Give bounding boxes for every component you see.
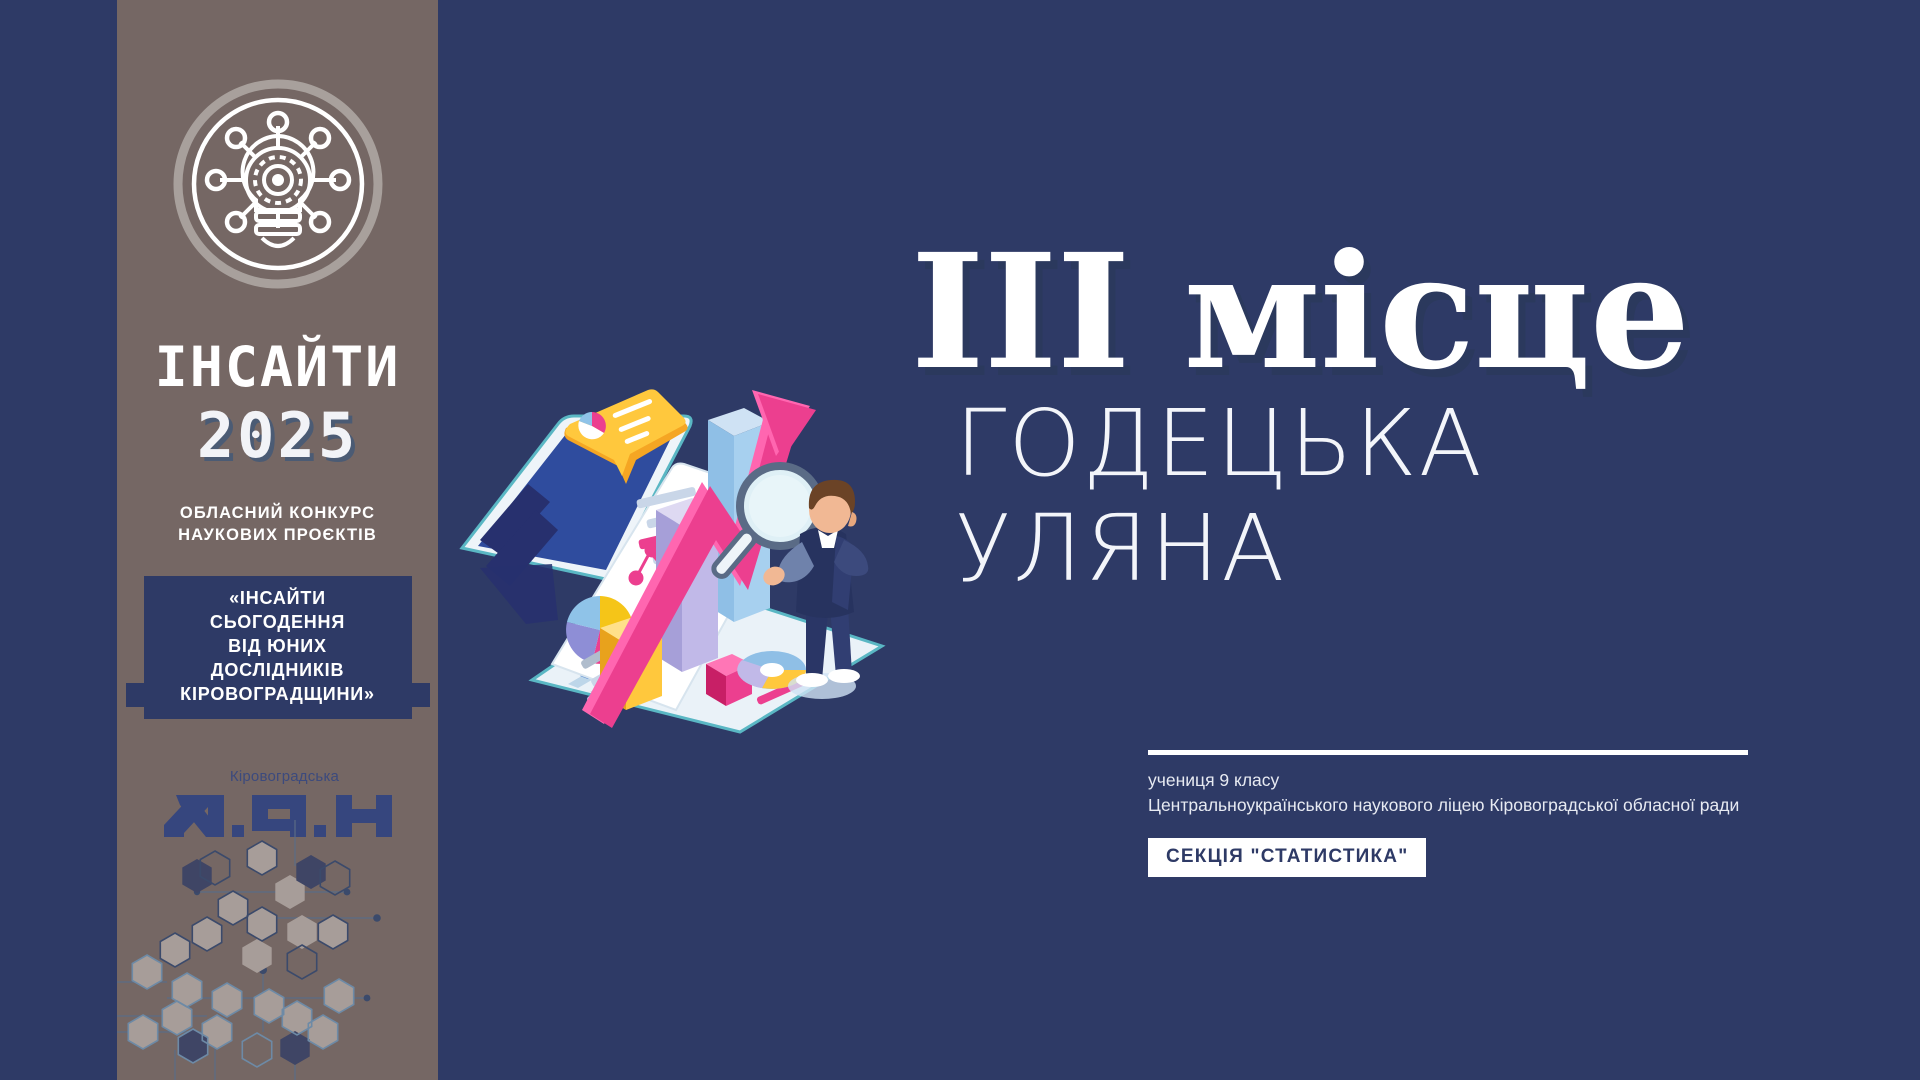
credits-line-1: учениця 9 класу [1148,768,1788,793]
subtitle-line-1: ОБЛАСНИЙ КОНКУРС [180,504,375,522]
subtitle-line-2: НАУКОВИХ ПРОЄКТІВ [178,526,377,544]
credits-line-2: Центральноукраїнського наукового ліцею К… [1148,793,1788,818]
man-region-label: Кіровоградська [162,768,408,785]
slogan-line-1: «ІНСАЙТИ [152,587,404,611]
awardee-firstname: УЛЯНА [955,497,1855,602]
competition-subtitle: ОБЛАСНИЙ КОНКУРС НАУКОВИХ ПРОЄКТІВ [117,503,438,547]
insights-emblem-icon [172,78,384,290]
slogan-line-5: КІРОВОГРАДЩИНИ» [126,683,430,707]
slogan-line-2: СЬОГОДЕННЯ [152,611,404,635]
brand-sidebar: ІНСАЙТИ 2025 ОБЛАСНИЙ КОНКУРС НАУКОВИХ П… [117,0,438,1080]
slogan-line-3: ВІД ЮНИХ [152,635,404,659]
awardee-credits: учениця 9 класу Центральноукраїнського н… [1148,768,1788,818]
data-analytics-illustration-icon [440,380,910,740]
insights-wordmark: ІНСАЙТИ [117,340,438,395]
divider-rule [1148,750,1748,755]
hexagon-network-pattern-icon [117,820,438,1080]
insights-year: 2025 [117,405,438,467]
awardee-name: ГОДЕЦЬКА УЛЯНА [955,392,1855,602]
award-slide: ІНСАЙТИ 2025 ОБЛАСНИЙ КОНКУРС НАУКОВИХ П… [0,0,1920,1080]
awardee-surname: ГОДЕЦЬКА [955,392,1855,497]
status-badge: СЕКЦІЯ "СТАТИСТИКА" [1148,838,1426,877]
slogan-line-4: ДОСЛІДНИКІВ [152,659,404,683]
competition-slogan-plaque: «ІНСАЙТИ СЬОГОДЕННЯ ВІД ЮНИХ ДОСЛІДНИКІВ… [144,576,412,719]
page-title: ІІІ місце [740,234,1860,392]
